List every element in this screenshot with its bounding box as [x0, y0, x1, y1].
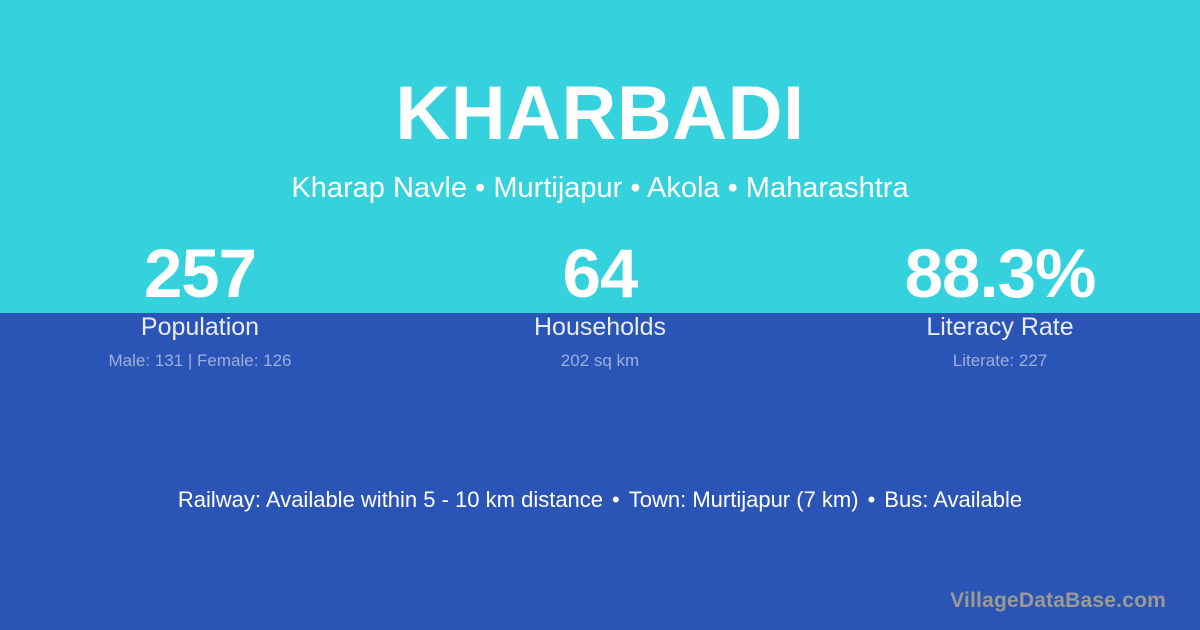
village-info-card: KHARBADI Kharap Navle • Murtijapur • Ako… — [0, 0, 1200, 630]
stat-sub: Male: 131 | Female: 126 — [0, 352, 400, 371]
stat-label: Population — [0, 314, 400, 342]
stat-value: 88.3% — [800, 243, 1200, 305]
stat-population: 257 Population Male: 131 | Female: 126 — [0, 243, 400, 370]
page-title: KHARBADI — [0, 76, 1200, 152]
stat-literacy-rate: 88.3% Literacy Rate Literate: 227 — [800, 243, 1200, 370]
breadcrumb: Kharap Navle • Murtijapur • Akola • Maha… — [0, 174, 1200, 203]
info-railway: Railway: Available within 5 - 10 km dist… — [178, 487, 603, 512]
site-watermark: VillageDataBase.com — [950, 589, 1166, 612]
info-town: Town: Murtijapur (7 km) — [629, 487, 859, 512]
stats-row: 257 Population Male: 131 | Female: 126 6… — [0, 243, 1200, 370]
info-bus: Bus: Available — [884, 487, 1022, 512]
stat-value: 64 — [400, 243, 800, 305]
card-header: KHARBADI Kharap Navle • Murtijapur • Ako… — [0, 0, 1200, 203]
stat-label: Literacy Rate — [800, 314, 1200, 342]
bullet-separator-icon: • — [859, 486, 885, 514]
stat-value: 257 — [0, 243, 400, 305]
stat-label: Households — [400, 314, 800, 342]
bullet-separator-icon: • — [603, 486, 629, 514]
amenities-info-line: Railway: Available within 5 - 10 km dist… — [0, 486, 1200, 514]
stat-households: 64 Households 202 sq km — [400, 243, 800, 370]
stat-sub: Literate: 227 — [800, 352, 1200, 371]
stat-sub: 202 sq km — [400, 352, 800, 371]
